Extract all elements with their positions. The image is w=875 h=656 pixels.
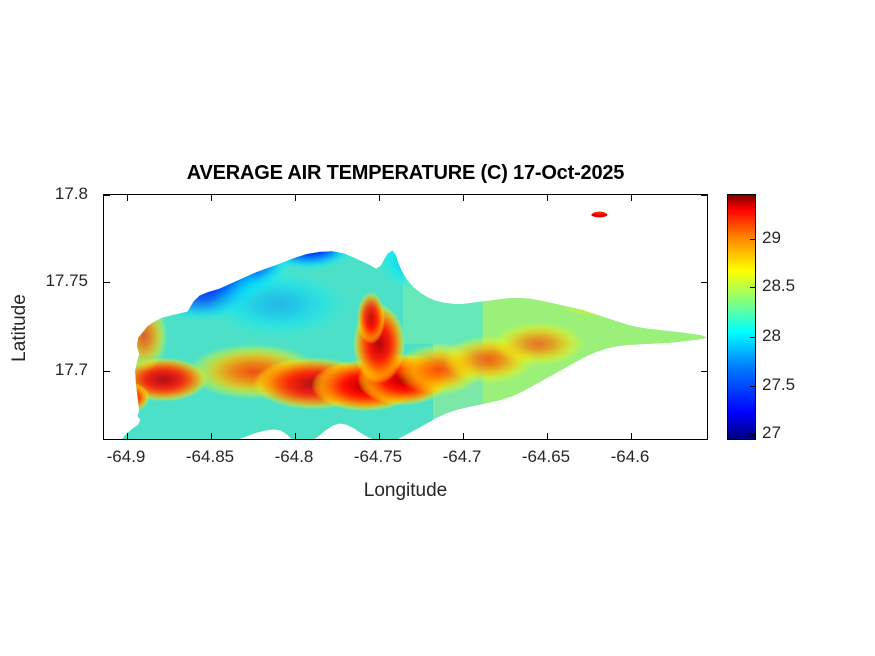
xtick [631, 433, 632, 439]
colorbar-tick [750, 337, 755, 338]
xtick [379, 195, 380, 201]
colorbar-tick [750, 386, 755, 387]
map-axes[interactable] [103, 194, 708, 440]
colorbar-tick [750, 434, 755, 435]
xtick [127, 195, 128, 201]
ytick-label: 17.75 [45, 271, 88, 291]
colorbar[interactable] [727, 194, 756, 440]
figure-canvas: AVERAGE AIR TEMPERATURE (C) 17-Oct-2025 [0, 0, 875, 656]
ytick [104, 371, 110, 372]
x-axis-label: Longitude [103, 480, 708, 502]
colorbar-label: 27 [762, 423, 781, 443]
colorbar-label: 29 [762, 228, 781, 248]
ytick [701, 371, 707, 372]
colorbar-tick [750, 239, 755, 240]
colorbar-label: 27.5 [762, 375, 795, 395]
xtick [295, 433, 296, 439]
xtick-label: -64.85 [186, 447, 234, 467]
offshore-cay-marker [591, 212, 607, 218]
y-axis-label: Latitude [9, 228, 31, 428]
xtick [463, 195, 464, 201]
xtick-label: -64.7 [443, 447, 482, 467]
xtick-label: -64.65 [522, 447, 570, 467]
xtick [211, 195, 212, 201]
page-title: AVERAGE AIR TEMPERATURE (C) 17-Oct-2025 [103, 162, 708, 185]
colorbar-label: 28.5 [762, 276, 795, 296]
xtick [127, 433, 128, 439]
xtick [547, 433, 548, 439]
ytick-label: 17.7 [55, 360, 88, 380]
ytick [701, 195, 707, 196]
colorbar-label: 28 [762, 326, 781, 346]
colorbar-tick [750, 287, 755, 288]
xtick [211, 433, 212, 439]
ytick [701, 282, 707, 283]
island-temperature-field [104, 195, 707, 439]
xtick-label: -64.9 [107, 447, 146, 467]
xtick-label: -64.8 [275, 447, 314, 467]
xtick [547, 195, 548, 201]
xtick [295, 195, 296, 201]
ytick [104, 282, 110, 283]
xtick [463, 433, 464, 439]
xtick-label: -64.6 [611, 447, 650, 467]
ytick [104, 195, 110, 196]
xtick [379, 433, 380, 439]
xtick [631, 195, 632, 201]
ytick-label: 17.8 [55, 184, 88, 204]
temperature-heatmap [104, 195, 707, 439]
xtick-label: -64.75 [354, 447, 402, 467]
